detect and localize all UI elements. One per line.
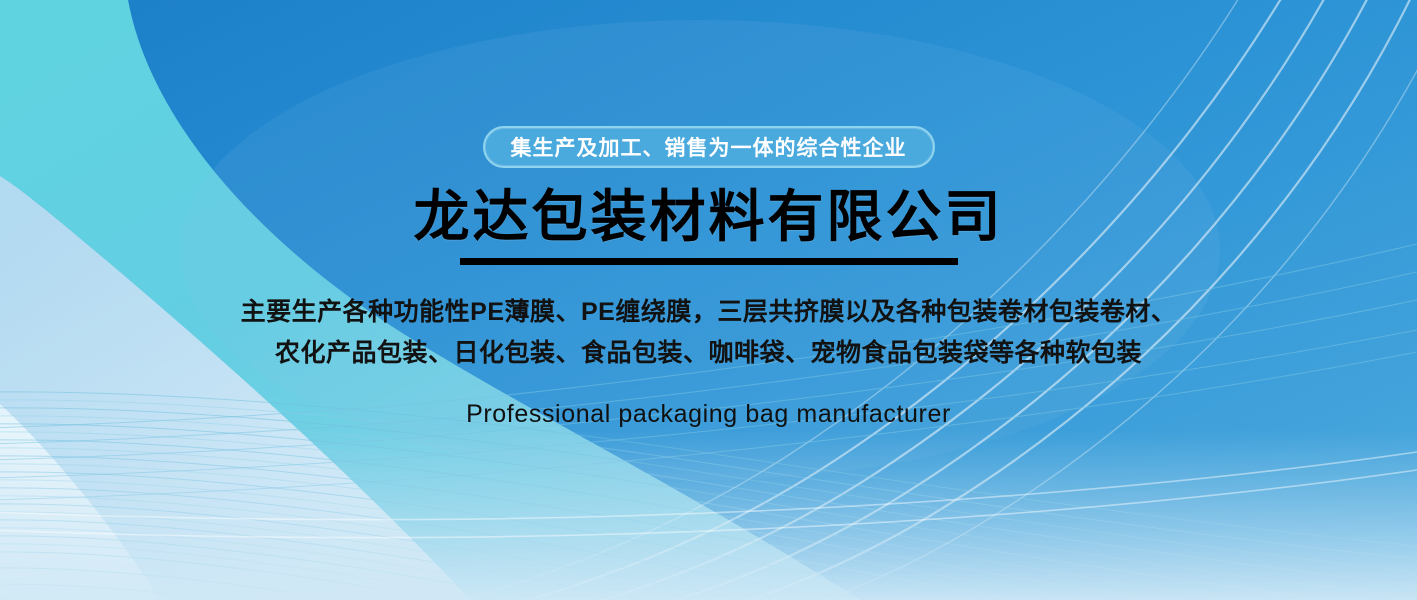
english-tagline: Professional packaging bag manufacturer xyxy=(466,400,951,429)
banner-content: 集生产及加工、销售为一体的综合性企业 龙达包装材料有限公司 主要生产各种功能性P… xyxy=(0,0,1417,600)
page-title: 龙达包装材料有限公司 xyxy=(414,186,1004,249)
description-line-2: 农化产品包装、日化包装、食品包装、咖啡袋、宠物食品包装袋等各种软包装 xyxy=(241,333,1177,374)
title-underline-rule xyxy=(460,258,958,265)
description-block: 主要生产各种功能性PE薄膜、PE缠绕膜，三层共挤膜以及各种包装卷材包装卷材、 农… xyxy=(241,292,1177,375)
tagline-pill: 集生产及加工、销售为一体的综合性企业 xyxy=(483,126,935,168)
hero-banner: 集生产及加工、销售为一体的综合性企业 龙达包装材料有限公司 主要生产各种功能性P… xyxy=(0,0,1417,600)
description-line-1: 主要生产各种功能性PE薄膜、PE缠绕膜，三层共挤膜以及各种包装卷材包装卷材、 xyxy=(241,292,1177,333)
